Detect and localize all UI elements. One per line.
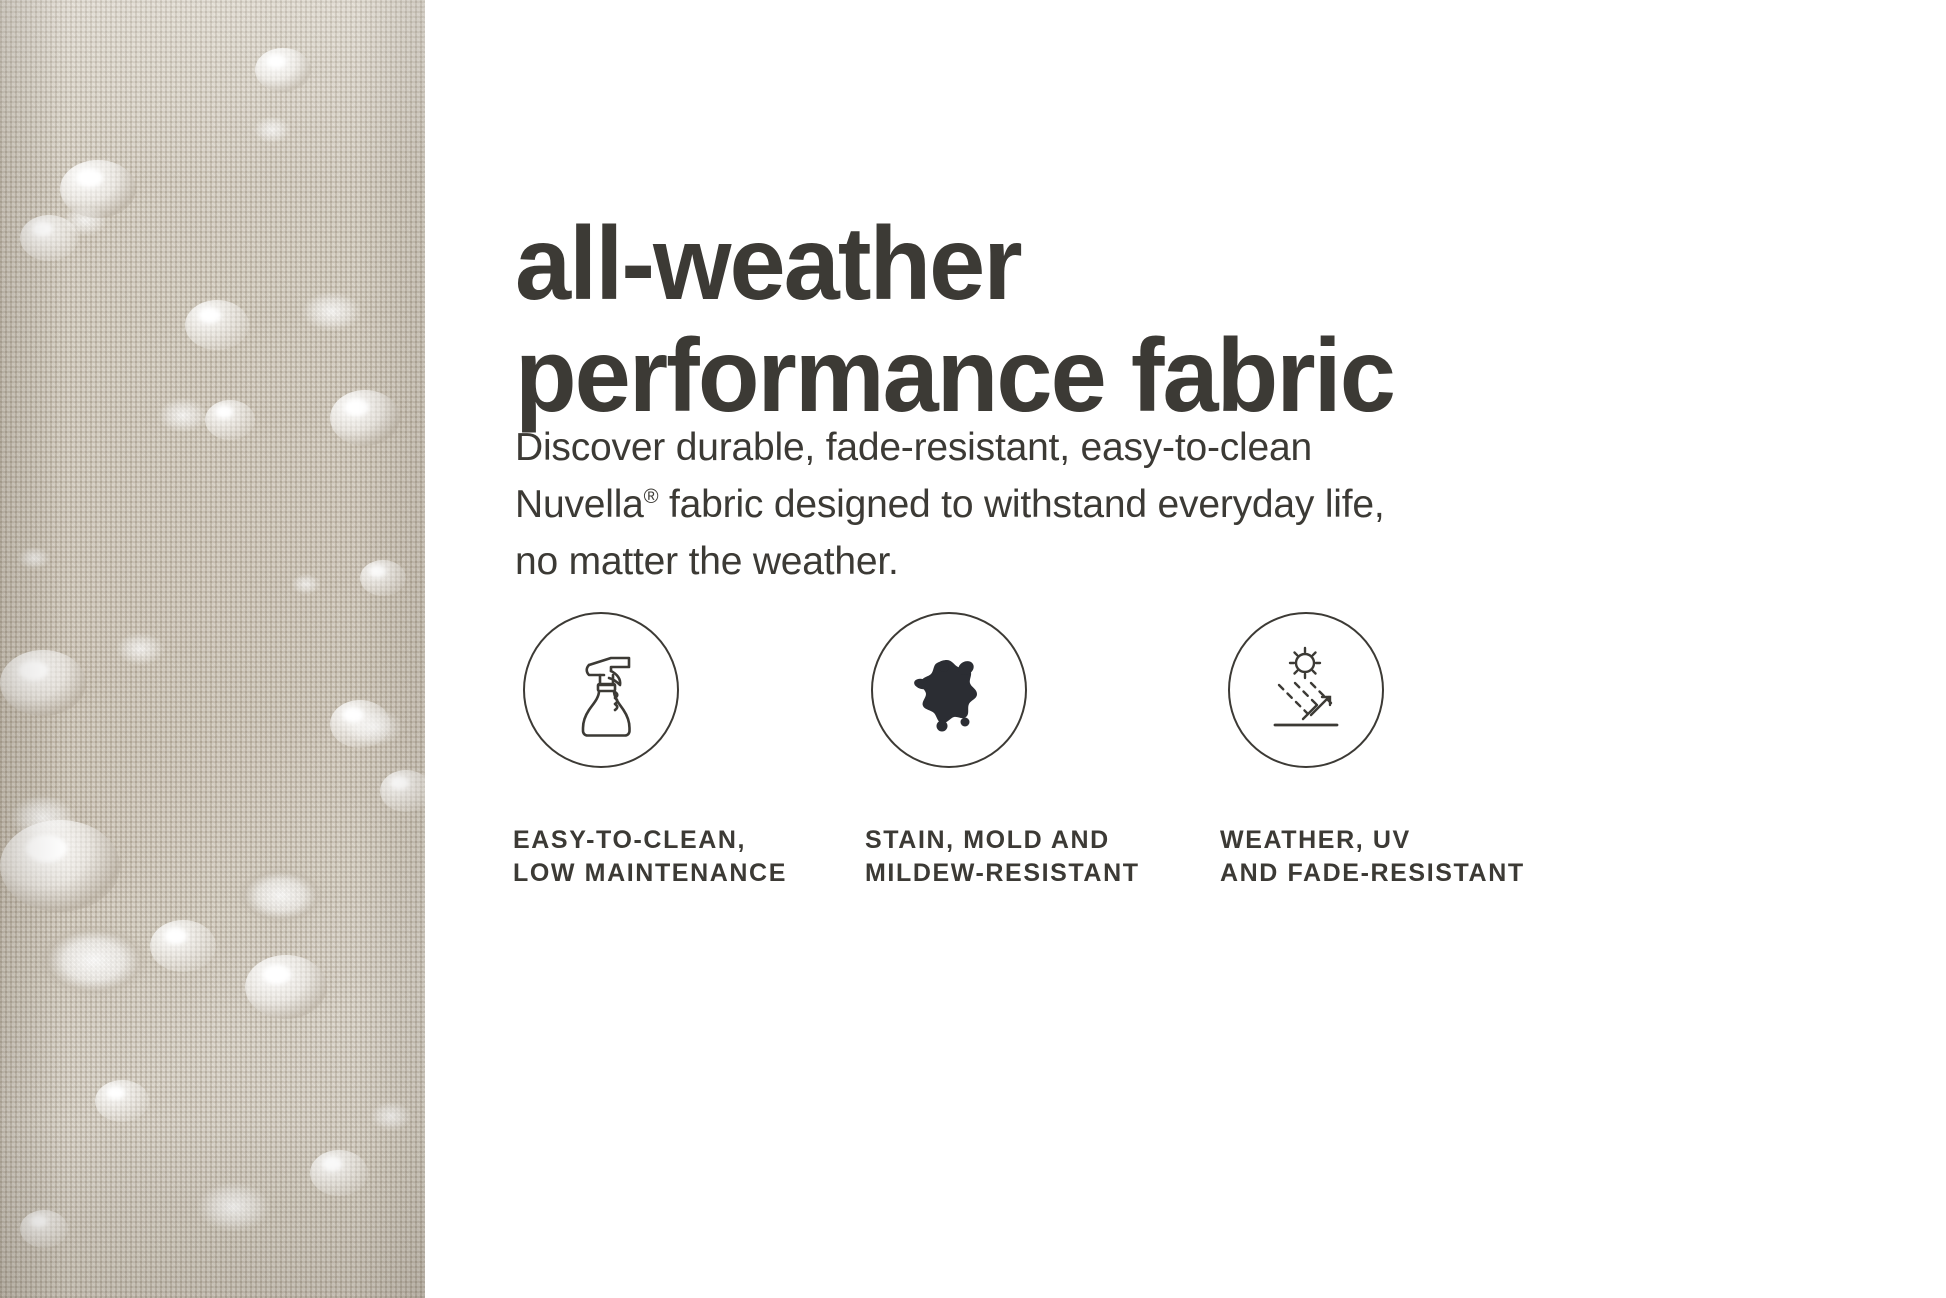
promo-banner: all-weather performance fabric Discover … bbox=[0, 0, 1946, 1298]
feature-item-stain-resistant: STAIN, MOLD AND MILDEW-RESISTANT bbox=[865, 612, 1220, 890]
feature-item-uv-resistant: WEATHER, UV AND FADE-RESISTANT bbox=[1220, 612, 1575, 890]
feature-caption: WEATHER, UV AND FADE-RESISTANT bbox=[1220, 824, 1525, 890]
page-title: all-weather performance fabric bbox=[515, 208, 1873, 432]
content-panel: all-weather performance fabric Discover … bbox=[425, 0, 1946, 1298]
body-line-3: no matter the weather. bbox=[515, 540, 899, 583]
body-paragraph: Discover durable, fade-resistant, easy-t… bbox=[515, 419, 1475, 590]
registered-mark-icon: ® bbox=[644, 486, 659, 508]
body-line-1: Discover durable, fade-resistant, easy-t… bbox=[515, 426, 1312, 469]
brand-name: Nuvella bbox=[515, 483, 644, 526]
icon-circle bbox=[871, 612, 1027, 768]
body-line-2: fabric designed to withstand everyday li… bbox=[658, 483, 1384, 526]
feature-caption: STAIN, MOLD AND MILDEW-RESISTANT bbox=[865, 824, 1140, 890]
spray-bottle-icon bbox=[549, 638, 653, 742]
headline-line-2: performance fabric bbox=[515, 320, 1873, 432]
headline-line-1: all-weather bbox=[515, 206, 1021, 322]
feature-item-easy-to-clean: EASY-TO-CLEAN, LOW MAINTENANCE bbox=[513, 612, 868, 890]
fabric-photo-panel bbox=[0, 0, 425, 1298]
icon-circle bbox=[523, 612, 679, 768]
feature-list: EASY-TO-CLEAN, LOW MAINTENANCE bbox=[513, 612, 1913, 890]
feature-caption: EASY-TO-CLEAN, LOW MAINTENANCE bbox=[513, 824, 787, 890]
photo-vignette bbox=[0, 0, 425, 1298]
stain-splat-icon bbox=[897, 638, 1001, 742]
sun-uv-fade-icon bbox=[1253, 637, 1359, 743]
icon-circle bbox=[1228, 612, 1384, 768]
